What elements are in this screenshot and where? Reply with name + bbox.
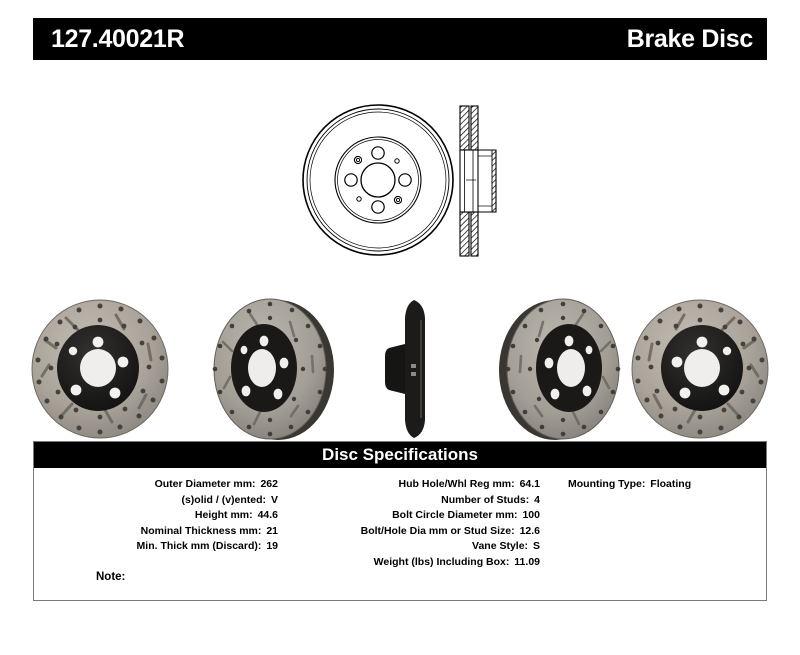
spec-value: S [533,540,540,552]
rotor-photo-face-right [620,296,780,442]
spec-row: Bolt Circle Diameter mm: 100 [286,508,540,524]
rotor-line-drawing [300,92,510,272]
spec-label: Min. Thick mm (Discard): [137,540,262,552]
product-type-label: Brake Disc [627,25,753,54]
spec-row: Hub Hole/Whl Reg mm: 64.1 [286,477,540,493]
spec-label: Weight (lbs) Including Box: [374,556,510,568]
spec-title-bar: Disc Specifications [34,442,766,468]
spec-row: Mounting Type: Floating [548,477,756,493]
spec-value: 64.1 [520,478,540,490]
spec-label: Height mm: [195,509,253,521]
spec-label: (s)olid / (v)ented: [181,494,266,506]
note-label: Note: [96,571,125,583]
spec-value: 21 [266,525,278,537]
rotor-photo-edge [380,296,450,442]
spec-value: 4 [534,494,540,506]
spec-value: 11.09 [514,556,540,568]
spec-value: V [271,494,278,506]
part-number: 127.40021R [51,25,184,54]
spec-row: (s)olid / (v)ented: V [38,493,278,509]
spec-row: Min. Thick mm (Discard): 19 [38,539,278,555]
spec-row: Bolt/Hole Dia mm or Stud Size: 12.6 [286,524,540,540]
spec-row: Outer Diameter mm: 262 [38,477,278,493]
spec-value: 262 [260,478,278,490]
spec-column-left: Outer Diameter mm: 262 (s)olid / (v)ente… [34,477,282,570]
spec-label: Hub Hole/Whl Reg mm: [399,478,515,490]
spec-column-right: Mounting Type: Floating [544,477,760,570]
spec-value: 44.6 [258,509,278,521]
spec-value: 12.6 [520,525,540,537]
spec-row: Vane Style: S [286,539,540,555]
product-photo-row [20,296,780,442]
spec-title: Disc Specifications [322,445,478,465]
spec-row: Weight (lbs) Including Box: 11.09 [286,555,540,571]
spec-label: Bolt/Hole Dia mm or Stud Size: [361,525,515,537]
rotor-face-view [303,105,453,255]
disc-specifications-panel: Disc Specifications Outer Diameter mm: 2… [33,441,767,601]
spec-label: Nominal Thickness mm: [141,525,262,537]
rotor-photo-angled-right [490,296,635,442]
rotor-cross-section-view [460,106,496,256]
spec-label: Number of Studs: [441,494,529,506]
product-spec-sheet: 127.40021R Brake Disc [0,0,800,655]
spec-value: 100 [522,509,540,521]
spec-row: Height mm: 44.6 [38,508,278,524]
spec-value: 19 [266,540,278,552]
spec-label: Bolt Circle Diameter mm: [392,509,517,521]
spec-label: Mounting Type: [568,478,645,490]
spec-column-middle: Hub Hole/Whl Reg mm: 64.1 Number of Stud… [282,477,544,570]
spec-columns: Outer Diameter mm: 262 (s)olid / (v)ente… [34,468,766,570]
rotor-photo-face-left [20,296,180,442]
rotor-photo-angled-left [198,296,343,442]
header-bar: 127.40021R Brake Disc [33,18,767,60]
spec-label: Vane Style: [472,540,528,552]
spec-row: Number of Studs: 4 [286,493,540,509]
spec-label: Outer Diameter mm: [155,478,256,490]
spec-value: Floating [650,478,691,490]
note-block: Note: [96,571,315,583]
spec-row: Nominal Thickness mm: 21 [38,524,278,540]
